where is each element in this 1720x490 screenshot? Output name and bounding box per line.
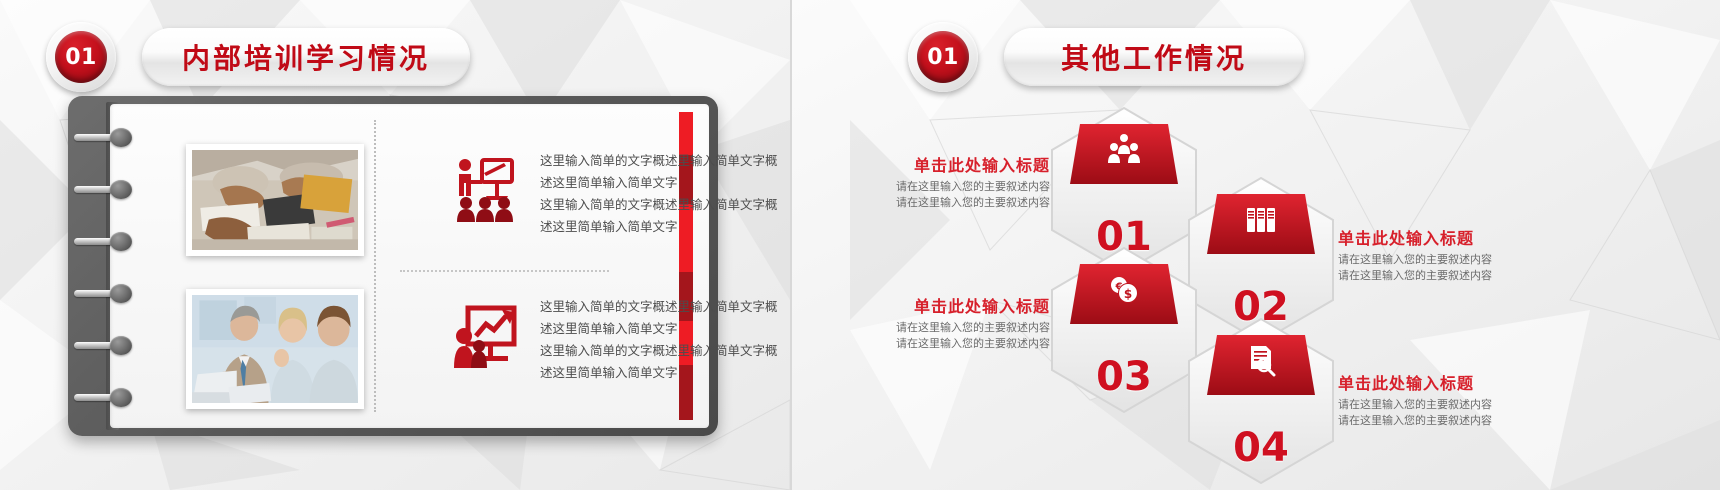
feature-text-2: 这里输入简单的文字概述里输入简单文字概 述这里简单输入简单文字 这里输入简单的文… bbox=[540, 296, 790, 384]
slide-training: 01 内部培训学习情况 bbox=[0, 0, 790, 490]
feature-line: 述这里简单输入简单文字 bbox=[540, 216, 790, 238]
feature-line: 这里输入简单的文字概述里输入简单文字概 bbox=[540, 340, 790, 362]
spiral-ring bbox=[74, 288, 132, 299]
document-search-icon bbox=[1187, 343, 1335, 382]
feature-line: 述这里简单输入简单文字 bbox=[540, 318, 790, 340]
photo-business-meeting bbox=[186, 289, 364, 409]
spiral-ring bbox=[74, 236, 132, 247]
feature-line: 这里输入简单的文字概述里输入简单文字概 bbox=[540, 150, 790, 172]
notebook-page: 这里输入简单的文字概述里输入简单文字概 述这里简单输入简单文字 这里输入简单的文… bbox=[110, 104, 709, 428]
slide-other-work: 01 其他工作情况 bbox=[790, 0, 1720, 490]
spiral-ring bbox=[74, 340, 132, 351]
hex-item-03[interactable]: € $ 03 bbox=[1050, 246, 1198, 414]
callout-desc-line: 请在这里输入您的主要叙述内容 bbox=[810, 195, 1050, 211]
callout-03: 单击此处输入标题 请在这里输入您的主要叙述内容 请在这里输入您的主要叙述内容 bbox=[810, 293, 1050, 352]
callout-desc-line: 请在这里输入您的主要叙述内容 bbox=[1338, 268, 1578, 284]
page-title: 内部培训学习情况 bbox=[182, 37, 430, 77]
hex-number: 03 bbox=[1050, 354, 1198, 400]
callout-desc-line: 请在这里输入您的主要叙述内容 bbox=[1338, 413, 1578, 429]
callout-02: 单击此处输入标题 请在这里输入您的主要叙述内容 请在这里输入您的主要叙述内容 bbox=[1338, 225, 1578, 284]
notebook-panel: 这里输入简单的文字概述里输入简单文字概 述这里简单输入简单文字 这里输入简单的文… bbox=[68, 96, 718, 436]
feature-row-1: 这里输入简单的文字概述里输入简单文字概 述这里简单输入简单文字 这里输入简单的文… bbox=[452, 150, 790, 238]
spiral-ring bbox=[74, 132, 132, 143]
feature-line: 述这里简单输入简单文字 bbox=[540, 172, 790, 194]
feature-line: 述这里简单输入简单文字 bbox=[540, 362, 790, 384]
money-coins-icon: € $ bbox=[1050, 272, 1198, 311]
feature-line: 这里输入简单的文字概述里输入简单文字概 bbox=[540, 296, 790, 318]
callout-desc-line: 请在这里输入您的主要叙述内容 bbox=[1338, 252, 1578, 268]
hex-number: 04 bbox=[1187, 425, 1335, 471]
callout-title: 单击此处输入标题 bbox=[1338, 370, 1578, 394]
photo-desk-documents bbox=[186, 144, 364, 256]
callout-desc-line: 请在这里输入您的主要叙述内容 bbox=[810, 179, 1050, 195]
callout-desc-line: 请在这里输入您的主要叙述内容 bbox=[1338, 397, 1578, 413]
callout-desc-line: 请在这里输入您的主要叙述内容 bbox=[810, 320, 1050, 336]
presenter-growth-chart-icon bbox=[452, 302, 518, 368]
people-group-icon bbox=[1050, 132, 1198, 171]
feature-text-1: 这里输入简单的文字概述里输入简单文字概 述这里简单输入简单文字 这里输入简单的文… bbox=[540, 150, 790, 238]
books-archive-icon bbox=[1187, 202, 1335, 241]
vertical-dotted-divider bbox=[374, 120, 376, 412]
feature-line: 这里输入简单的文字概述里输入简单文字概 bbox=[540, 194, 790, 216]
spiral-ring bbox=[74, 184, 132, 195]
callout-title: 单击此处输入标题 bbox=[1338, 225, 1578, 249]
callout-04: 单击此处输入标题 请在这里输入您的主要叙述内容 请在这里输入您的主要叙述内容 bbox=[1338, 370, 1578, 429]
callout-title: 单击此处输入标题 bbox=[810, 152, 1050, 176]
horizontal-dotted-divider bbox=[400, 270, 609, 272]
training-presenter-audience-icon bbox=[452, 156, 518, 222]
page-title-pill: 内部培训学习情况 bbox=[142, 28, 470, 86]
section-badge-number: 01 bbox=[55, 31, 107, 83]
callout-title: 单击此处输入标题 bbox=[810, 293, 1050, 317]
spiral-rings bbox=[68, 114, 134, 424]
section-badge: 01 bbox=[46, 22, 116, 92]
hexagon-diagram: 01 bbox=[790, 0, 1720, 490]
hex-item-04[interactable]: 04 bbox=[1187, 317, 1335, 485]
callout-01: 单击此处输入标题 请在这里输入您的主要叙述内容 请在这里输入您的主要叙述内容 bbox=[810, 152, 1050, 211]
svg-text:$: $ bbox=[1124, 287, 1132, 301]
feature-row-2: 这里输入简单的文字概述里输入简单文字概 述这里简单输入简单文字 这里输入简单的文… bbox=[452, 296, 790, 384]
slide-header: 01 内部培训学习情况 bbox=[46, 22, 470, 92]
slide-deck: 01 内部培训学习情况 bbox=[0, 0, 1720, 490]
spiral-ring bbox=[74, 392, 132, 403]
callout-desc-line: 请在这里输入您的主要叙述内容 bbox=[810, 336, 1050, 352]
